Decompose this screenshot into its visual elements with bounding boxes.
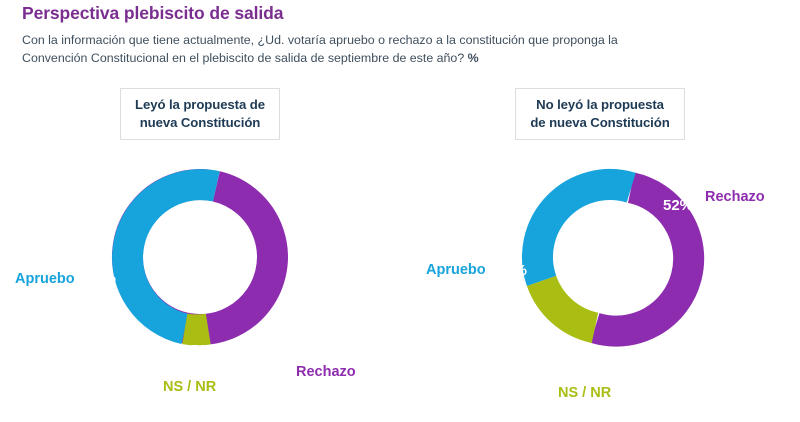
chart-title-left: Leyó la propuesta de nueva Constitución: [120, 88, 280, 140]
value-label-nsnr-right: 23%: [586, 351, 616, 366]
slide-root: Perspectiva plebiscito de salida Con la …: [0, 0, 800, 422]
chart-title-right: No leyó la propuesta de nueva Constituci…: [515, 88, 684, 140]
value-label-apruebo-left: 37%: [86, 271, 116, 286]
page-title: Perspectiva plebiscito de salida: [22, 3, 782, 23]
donut-slice-nsnr-left: [185, 329, 209, 330]
value-label-apruebo-right: 25%: [497, 263, 527, 278]
category-label-nsnr-left: NS / NR: [163, 380, 216, 395]
value-label-nsnr-left: 5%: [191, 343, 213, 358]
donut-slice-apruebo-right: [537, 185, 631, 281]
category-label-rechazo-right: Rechazo: [705, 190, 765, 205]
category-label-rechazo-left: Rechazo: [296, 365, 356, 380]
charts-container: Leyó la propuesta de nueva Constitución: [0, 88, 800, 422]
header: Perspectiva plebiscito de salida Con la …: [22, 3, 782, 68]
page-subtitle-unit: %: [468, 51, 479, 65]
donut-area-left: 58% Rechazo Apruebo 37% 5% NS / NR: [0, 140, 400, 412]
chart-title-wrap-right: No leyó la propuesta de nueva Constituci…: [400, 88, 800, 140]
chart-panel-right: No leyó la propuesta de nueva Constituci…: [400, 88, 800, 422]
donut-area-right: 52% Rechazo Apruebo 25% 23% NS / NR: [400, 140, 800, 412]
chart-title-wrap-left: Leyó la propuesta de nueva Constitución: [0, 88, 400, 140]
value-label-rechazo-right: 52%: [663, 198, 693, 213]
page-subtitle-line1: Con la información que tiene actualmente…: [22, 33, 618, 47]
chart-panel-left: Leyó la propuesta de nueva Constitución: [0, 88, 400, 422]
category-label-apruebo-right: Apruebo: [426, 263, 486, 278]
value-label-rechazo-left: 58%: [258, 366, 288, 381]
page-subtitle-line2: Convención Constitucional en el plebisci…: [22, 51, 464, 65]
category-label-apruebo-left: Apruebo: [15, 272, 75, 287]
page-subtitle: Con la información que tiene actualmente…: [22, 32, 762, 68]
donut-slice-nsnr-right: [542, 281, 595, 328]
category-label-nsnr-right: NS / NR: [558, 386, 611, 401]
